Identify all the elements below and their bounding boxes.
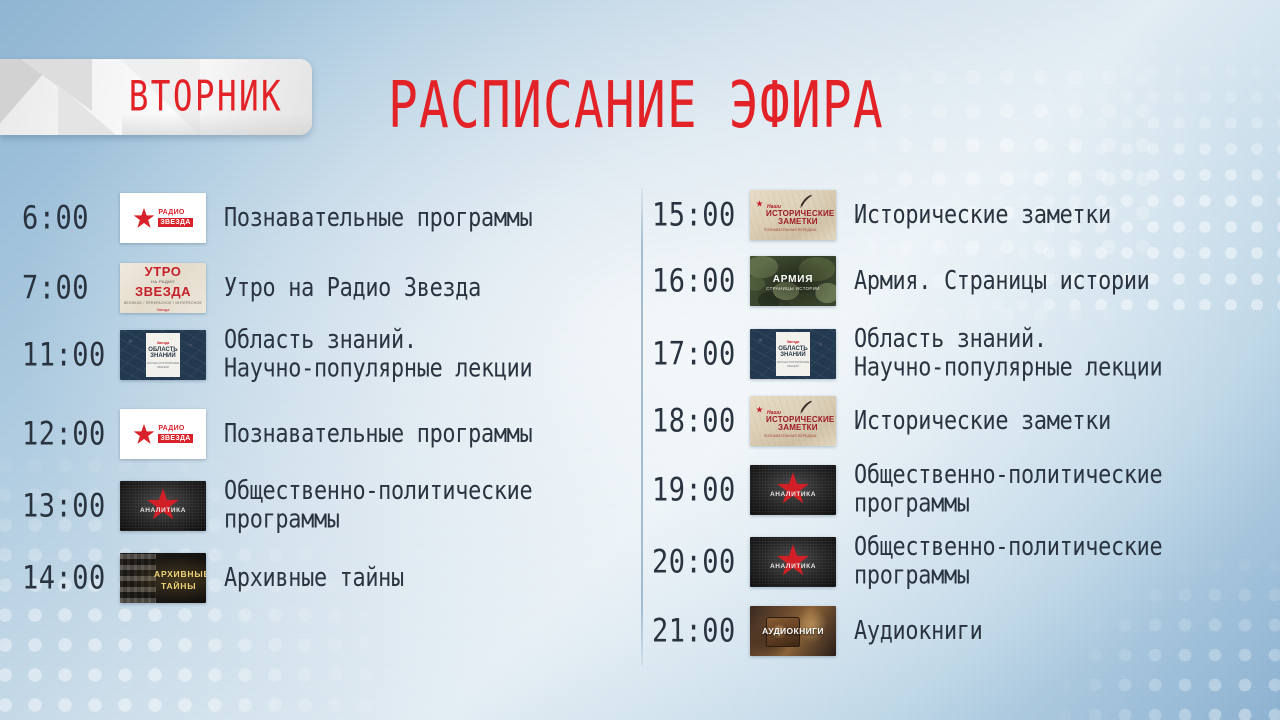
oblast-card: ЗвездаОБЛАСТЬЗНАНИЙНАУЧНО-ПОПУЛЯРНЫЕЛЕКЦ…	[146, 333, 180, 377]
schedule-row[interactable]: 14:00АРХИВНЫЕТАЙНЫ Архивные тайны	[22, 553, 642, 603]
program-time: 19:00	[652, 471, 750, 508]
program-thumbnail[interactable]: ЗвездаОБЛАСТЬЗНАНИЙНАУЧНО-ПОПУЛЯРНЫЕЛЕКЦ…	[120, 330, 206, 380]
arhiv-line1: АРХИВНЫЕ	[154, 569, 206, 579]
program-title: Познавательные программы	[224, 204, 532, 232]
radio-wordmark: РАДИОЗВЕЗДА	[158, 209, 192, 227]
quill-pen-icon	[798, 194, 814, 208]
thumb-art-istoricheskie-zametki: НашиИСТОРИЧЕСКИЕЗАМЕТКИПОЗНАВАТЕЛЬНАЯ ПЕ…	[750, 190, 836, 240]
program-thumbnail[interactable]: АНАЛИТИКА	[750, 465, 836, 515]
schedule-row[interactable]: 17:00ЗвездаОБЛАСТЬЗНАНИЙНАУЧНО-ПОПУЛЯРНЫ…	[652, 329, 1272, 379]
red-star-icon	[756, 406, 763, 413]
program-title: Общественно-политические программы	[854, 462, 1162, 519]
radio-wordmark: РАДИОЗВЕЗДА	[158, 425, 192, 443]
radio-wordmark-line2: ЗВЕЗДА	[158, 434, 192, 443]
program-title: Исторические заметки	[854, 201, 1111, 229]
thumb-art-analitika: АНАЛИТИКА	[750, 465, 836, 515]
istor-line2: ЗАМЕТКИ	[778, 217, 818, 226]
red-star-icon	[133, 207, 155, 229]
program-thumbnail[interactable]: АРМИЯСТРАНИЦЫ ИСТОРИИ	[750, 256, 836, 306]
program-title: Область знаний. Научно-популярные лекции	[854, 326, 1162, 383]
red-star-icon	[756, 194, 763, 201]
schedule-row[interactable]: 20:00АНАЛИТИКАОбщественно-политические п…	[652, 537, 1272, 587]
analitika-label: АНАЛИТИКА	[770, 563, 816, 570]
radio-wordmark-line2: ЗВЕЗДА	[158, 218, 192, 227]
program-title: Утро на Радио Звезда	[224, 274, 481, 302]
radio-wordmark-line1: РАДИО	[158, 425, 192, 432]
red-star-icon	[776, 543, 810, 577]
red-star-icon	[133, 423, 155, 445]
analitika-label: АНАЛИТИКА	[140, 507, 186, 514]
thumb-art-istoricheskie-zametki: НашиИСТОРИЧЕСКИЕЗАМЕТКИПОЗНАВАТЕЛЬНАЯ ПЕ…	[750, 396, 836, 446]
utro-line3: ВЕЛИКОЕ / ПРЕКРАСНОЕ / ИНТЕРЕСНОЕ	[124, 301, 202, 305]
program-title: Познавательные программы	[224, 420, 532, 448]
red-star-icon	[776, 543, 810, 577]
program-time: 17:00	[652, 335, 750, 372]
schedule-row[interactable]: 11:00ЗвездаОБЛАСТЬЗНАНИЙНАУЧНО-ПОПУЛЯРНЫ…	[22, 330, 642, 380]
schedule-row[interactable]: 6:00РАДИОЗВЕЗДАПознавательные программы	[22, 193, 642, 243]
utro-line4: Звезда	[157, 307, 170, 312]
thumb-art-radio-zvezda: РАДИОЗВЕЗДА	[120, 409, 206, 459]
schedule-row[interactable]: 19:00АНАЛИТИКАОбщественно-политические п…	[652, 465, 1272, 515]
program-time: 12:00	[22, 415, 120, 452]
oblast-brand: Звезда	[157, 341, 169, 345]
red-star-icon	[146, 487, 180, 521]
program-time: 7:00	[22, 269, 120, 306]
red-star-icon	[756, 400, 763, 407]
program-time: 11:00	[22, 336, 120, 373]
program-title: Аудиокниги	[854, 617, 982, 645]
program-thumbnail[interactable]: НашиИСТОРИЧЕСКИЕЗАМЕТКИПОЗНАВАТЕЛЬНАЯ ПЕ…	[750, 190, 836, 240]
oblast-line2: ЗНАНИЙ	[780, 352, 805, 358]
thumb-art-oblast-znaniy: ЗвездаОБЛАСТЬЗНАНИЙНАУЧНО-ПОПУЛЯРНЫЕЛЕКЦ…	[750, 329, 836, 379]
arhiv-line2: ТАЙНЫ	[161, 581, 196, 591]
day-label: ВТОРНИК	[129, 73, 308, 122]
red-star-icon	[146, 487, 180, 521]
program-time: 18:00	[652, 402, 750, 439]
utro-line1: УТРО	[145, 265, 182, 278]
program-time: 14:00	[22, 559, 120, 596]
armiya-line1: АРМИЯ	[773, 274, 813, 285]
schedule-columns: 6:00РАДИОЗВЕЗДАПознавательные программы7…	[0, 178, 1280, 688]
istor-line3: ПОЗНАВАТЕЛЬНАЯ ПЕРЕДАЧА	[764, 434, 816, 438]
program-time: 21:00	[652, 612, 750, 649]
oblast-card: ЗвездаОБЛАСТЬЗНАНИЙНАУЧНО-ПОПУЛЯРНЫЕЛЕКЦ…	[776, 332, 810, 376]
schedule-row[interactable]: 16:00АРМИЯСТРАНИЦЫ ИСТОРИИАрмия. Страниц…	[652, 256, 1272, 306]
program-thumbnail[interactable]: УТРОНА РАДИОЗВЕЗДАВЕЛИКОЕ / ПРЕКРАСНОЕ /…	[120, 263, 206, 313]
program-time: 6:00	[22, 199, 120, 236]
thumb-art-radio-zvezda: РАДИОЗВЕЗДА	[120, 193, 206, 243]
program-time: 13:00	[22, 487, 120, 524]
oblast-line2: ЗНАНИЙ	[150, 353, 175, 359]
program-thumbnail[interactable]: АРХИВНЫЕТАЙНЫ	[120, 553, 206, 603]
program-title: Армия. Страницы истории	[854, 267, 1150, 295]
audio-label: АУДИОКНИГИ	[762, 626, 824, 636]
radio-wordmark-line1: РАДИО	[158, 209, 192, 216]
thumb-art-analitika: АНАЛИТИКА	[120, 481, 206, 531]
istor-line2: ЗАМЕТКИ	[778, 423, 818, 432]
red-star-icon	[776, 471, 810, 505]
schedule-row[interactable]: 13:00АНАЛИТИКАОбщественно-политические п…	[22, 481, 642, 531]
program-thumbnail[interactable]: РАДИОЗВЕЗДА	[120, 193, 206, 243]
istor-line3: ПОЗНАВАТЕЛЬНАЯ ПЕРЕДАЧА	[764, 228, 816, 232]
schedule-row[interactable]: 7:00УТРОНА РАДИОЗВЕЗДАВЕЛИКОЕ / ПРЕКРАСН…	[22, 263, 642, 313]
schedule-row[interactable]: 21:00АУДИОКНИГИАудиокниги	[652, 606, 1272, 656]
thumb-art-analitika: АНАЛИТИКА	[750, 537, 836, 587]
program-title: Область знаний. Научно-популярные лекции	[224, 327, 532, 384]
red-star-icon	[756, 200, 763, 207]
red-star-icon	[133, 207, 155, 229]
broadcast-schedule-slide: ВТОРНИК РАСПИСАНИЕ ЭФИРА 6:00РАДИОЗВЕЗДА…	[0, 0, 1280, 720]
analitika-label: АНАЛИТИКА	[770, 491, 816, 498]
page-title: РАСПИСАНИЕ ЭФИРА	[388, 68, 884, 142]
thumb-art-audioknigi: АУДИОКНИГИ	[750, 606, 836, 656]
program-time: 20:00	[652, 543, 750, 580]
program-time: 15:00	[652, 196, 750, 233]
quill-pen-icon	[798, 400, 814, 414]
program-title: Архивные тайны	[224, 564, 404, 592]
program-thumbnail[interactable]: ЗвездаОБЛАСТЬЗНАНИЙНАУЧНО-ПОПУЛЯРНЫЕЛЕКЦ…	[750, 329, 836, 379]
program-title: Общественно-политические программы	[854, 534, 1162, 591]
program-thumbnail[interactable]: НашиИСТОРИЧЕСКИЕЗАМЕТКИПОЗНАВАТЕЛЬНАЯ ПЕ…	[750, 396, 836, 446]
schedule-row[interactable]: 12:00РАДИОЗВЕЗДАПознавательные программы	[22, 409, 642, 459]
day-badge: ВТОРНИК	[0, 59, 312, 135]
program-title: Общественно-политические программы	[224, 478, 532, 535]
oblast-line3: НАУЧНО-ПОПУЛЯРНЫЕЛЕКЦИИ	[777, 361, 810, 368]
program-title: Исторические заметки	[854, 407, 1111, 435]
program-thumbnail[interactable]: РАДИОЗВЕЗДА	[120, 409, 206, 459]
red-star-icon	[133, 423, 155, 445]
red-star-icon	[776, 471, 810, 505]
oblast-line3: НАУЧНО-ПОПУЛЯРНЫЕЛЕКЦИИ	[147, 362, 180, 369]
schedule-row[interactable]: 18:00НашиИСТОРИЧЕСКИЕЗАМЕТКИПОЗНАВАТЕЛЬН…	[652, 396, 1272, 446]
program-thumbnail[interactable]: АНАЛИТИКА	[750, 537, 836, 587]
program-time: 16:00	[652, 262, 750, 299]
thumb-art-armiya: АРМИЯСТРАНИЦЫ ИСТОРИИ	[750, 256, 836, 306]
utro-line2: ЗВЕЗДА	[135, 285, 191, 298]
badge-facet-3	[58, 85, 116, 135]
program-thumbnail[interactable]: АУДИОКНИГИ	[750, 606, 836, 656]
thumb-art-utro: УТРОНА РАДИОЗВЕЗДАВЕЛИКОЕ / ПРЕКРАСНОЕ /…	[120, 263, 206, 313]
armiya-line2: СТРАНИЦЫ ИСТОРИИ	[766, 286, 820, 291]
thumb-art-oblast-znaniy: ЗвездаОБЛАСТЬЗНАНИЙНАУЧНО-ПОПУЛЯРНЫЕЛЕКЦ…	[120, 330, 206, 380]
utro-line0: НА РАДИО	[151, 279, 175, 284]
program-thumbnail[interactable]: АНАЛИТИКА	[120, 481, 206, 531]
oblast-brand: Звезда	[787, 340, 799, 344]
thumb-art-arhivnye-tayny: АРХИВНЫЕТАЙНЫ	[120, 553, 206, 603]
schedule-row[interactable]: 15:00НашиИСТОРИЧЕСКИЕЗАМЕТКИПОЗНАВАТЕЛЬН…	[652, 190, 1272, 240]
